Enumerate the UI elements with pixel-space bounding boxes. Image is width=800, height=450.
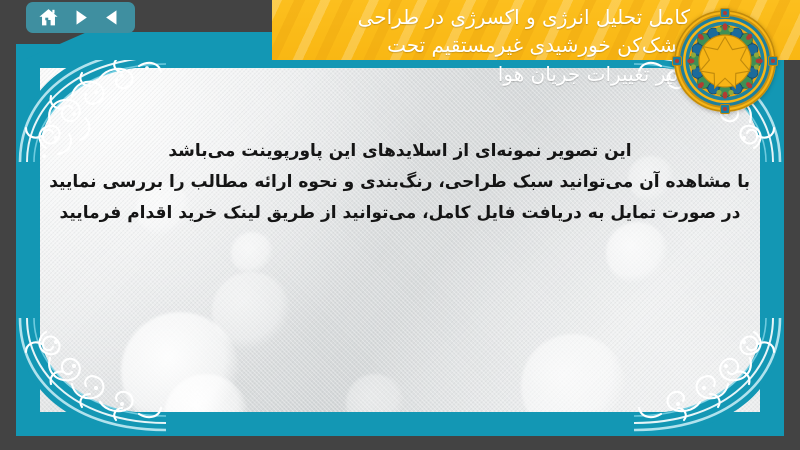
next-slide-button[interactable]: [68, 6, 94, 30]
slide-background-texture: [16, 44, 784, 436]
home-icon: [38, 7, 59, 28]
slide-body-text: این تصویر نمونه‌ای از اسلایدهای این پاور…: [50, 136, 750, 229]
body-line-2: با مشاهده آن می‌توانید سبک طراحی، رنگ‌بن…: [50, 167, 750, 198]
slide-viewer-toolbar: [26, 2, 135, 33]
slide-viewer-window: این تصویر نمونه‌ای از اسلایدهای این پاور…: [0, 0, 800, 450]
body-line-3: در صورت تمایل به دریافت فایل کامل، می‌تو…: [50, 198, 750, 229]
persian-medallion-ornament: [672, 8, 778, 114]
presentation-slide: این تصویر نمونه‌ای از اسلایدهای این پاور…: [16, 44, 784, 436]
triangle-left-icon: [103, 8, 122, 27]
home-button[interactable]: [35, 6, 61, 30]
triangle-right-icon: [71, 8, 90, 27]
previous-slide-button[interactable]: [100, 6, 126, 30]
body-line-1: این تصویر نمونه‌ای از اسلایدهای این پاور…: [50, 136, 750, 167]
